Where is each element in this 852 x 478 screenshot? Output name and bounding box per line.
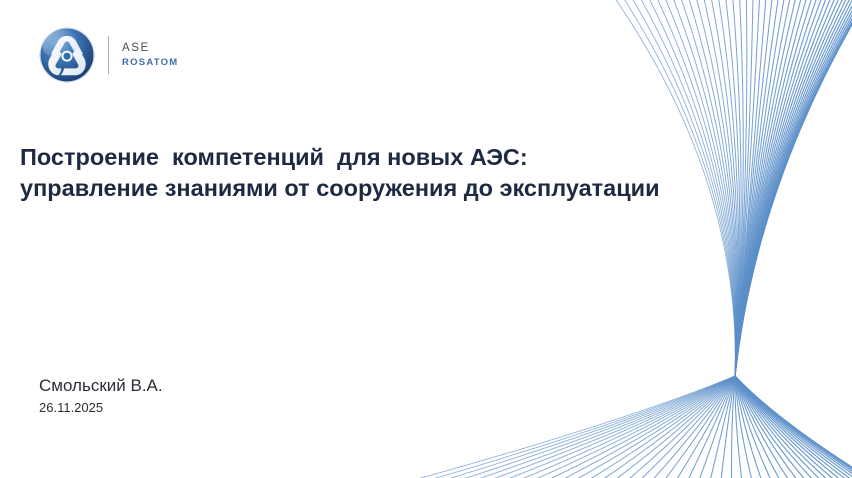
decorative-curve — [735, 0, 802, 478]
decorative-curve — [720, 0, 785, 478]
logo-brand-rosatom: ROSATOM — [122, 58, 178, 68]
decorative-curve — [735, 0, 841, 478]
decorative-curve — [550, 0, 737, 478]
decorative-curve — [392, 0, 735, 478]
logo-divider — [108, 36, 109, 74]
decorative-curve — [735, 0, 852, 478]
decorative-curve — [505, 0, 736, 478]
decorative-curve — [647, 0, 747, 478]
decorative-curve — [579, 0, 738, 478]
decorative-curve — [735, 0, 852, 478]
decorative-curve — [409, 0, 736, 478]
decorative-curve — [425, 0, 735, 478]
decorative-curve — [735, 0, 845, 478]
decorative-curve — [735, 0, 852, 478]
decorative-curve — [634, 0, 743, 478]
decorative-curve — [735, 0, 818, 478]
decorative-curve — [735, 0, 813, 478]
decorative-curve — [458, 0, 736, 478]
decorative-curve — [735, 0, 808, 478]
logo-wordmark: ASE ROSATOM — [122, 42, 178, 68]
decorative-curve — [709, 0, 779, 478]
decorative-curve — [489, 0, 735, 478]
logo-brand-ase: ASE — [122, 42, 178, 54]
presentation-date: 26.11.2025 — [39, 399, 163, 417]
decorative-curve — [735, 0, 852, 478]
decorative-curve — [697, 0, 773, 478]
decorative-curve — [685, 0, 766, 478]
decorative-curve — [735, 0, 852, 478]
author-block: Смольский В.А. 26.11.2025 — [39, 375, 163, 417]
rosatom-atom-emblem-icon — [38, 26, 96, 84]
decorative-curve — [732, 0, 791, 478]
title-slide: ASE ROSATOM Построение компетенций для н… — [0, 0, 852, 478]
decorative-curve — [735, 0, 828, 478]
decorative-curve — [565, 0, 738, 478]
page-title: Построение компетенций для новых АЭС: уп… — [20, 142, 720, 204]
decorative-curve — [735, 0, 852, 478]
decorative-curve — [735, 0, 837, 478]
decorative-curve — [442, 0, 736, 478]
author-name: Смольский В.А. — [39, 375, 163, 397]
decorative-curve — [593, 0, 739, 478]
decorative-curve — [520, 0, 736, 478]
decorative-curve — [735, 0, 852, 478]
decorative-curve — [735, 0, 823, 478]
decorative-curve — [735, 0, 852, 478]
page-title-line-1: Построение компетенций для новых АЭС: — [20, 142, 720, 173]
page-title-line-2: управление знаниями от сооружения до экс… — [20, 173, 720, 204]
decorative-curve — [535, 0, 736, 478]
decorative-curve — [673, 0, 760, 478]
decorative-curve — [621, 0, 741, 478]
decorative-curve — [735, 0, 849, 478]
decorative-curve — [735, 0, 797, 478]
brand-logo: ASE ROSATOM — [38, 26, 178, 84]
decorative-curve — [735, 0, 852, 478]
decorative-curve — [474, 0, 736, 478]
decorative-curve — [607, 0, 740, 478]
decorative-curve — [660, 0, 753, 478]
decorative-curve — [735, 0, 832, 478]
